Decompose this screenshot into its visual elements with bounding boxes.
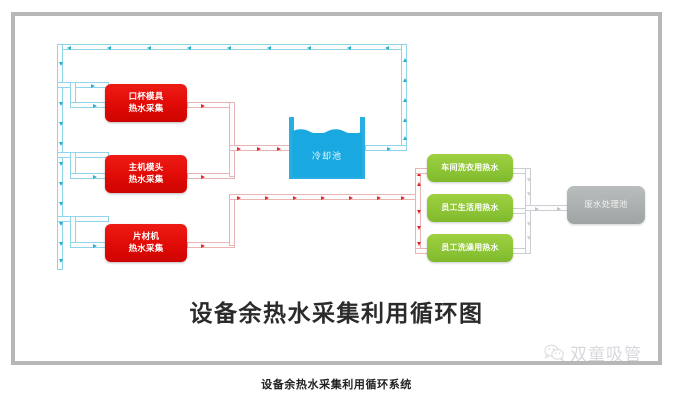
- diagram-title: 设备余热水采集利用循环图: [15, 294, 658, 328]
- hot-outlet-pipe-1: [187, 102, 235, 108]
- cold-arrow-down-11: [59, 259, 63, 263]
- cooling-pool-label: 冷却池: [287, 149, 367, 162]
- cold-branch-arrow-1b: [93, 104, 97, 108]
- cold-branch-arrow-3b: [93, 244, 97, 248]
- hot-dist-arrow-up-2: [417, 182, 421, 186]
- cold-arrow-down-1: [59, 62, 63, 66]
- wechat-icon: [544, 344, 565, 362]
- use-box-staff-living[interactable]: 员工生活用热水: [427, 194, 513, 222]
- cold-arrow-left-5: [227, 46, 231, 50]
- cold-arrow-left-7: [307, 46, 311, 50]
- hot-dist-arrow-down-2: [417, 226, 421, 230]
- hot-uses-arrow-5: [349, 196, 353, 200]
- diagram-frame: 口杯模具 热水采集 主机模头 热水采集 片材机 热水采集 冷却池 车间洗衣用热水…: [11, 12, 662, 365]
- cold-arrow-down-3: [59, 102, 63, 106]
- cold-arrow-left-1: [67, 46, 71, 50]
- cold-arrow-left-9: [385, 46, 389, 50]
- waste-outlet-arrow-1: [535, 207, 539, 211]
- hot-outlet-pipe-2: [187, 173, 235, 179]
- cold-arrow-left-3: [147, 46, 151, 50]
- source-label-line2: 热水采集: [129, 244, 164, 254]
- cold-arrow-up-1: [403, 58, 407, 62]
- cold-arrow-up-5: [403, 136, 407, 140]
- hot-outlet-arrow-1: [201, 104, 205, 108]
- cold-branch-pipe-1b: [70, 102, 109, 108]
- waste-label: 废水处理池: [584, 200, 628, 210]
- waste-treatment-pool-node[interactable]: 废水处理池: [567, 186, 645, 224]
- hot-header-arrow-3: [277, 147, 281, 151]
- source-label-line1: 口杯模具: [129, 92, 164, 102]
- waste-arrow-down-4: [527, 236, 531, 240]
- source-label-line1: 主机模头: [129, 163, 164, 173]
- figure-caption: 设备余热水采集利用循环系统: [0, 376, 673, 392]
- source-box-main-die[interactable]: 主机模头 热水采集: [105, 155, 187, 193]
- hot-outlet-riser-1: [229, 102, 235, 150]
- cold-branch-pipe-3: [57, 216, 109, 222]
- hot-outlet-pipe-3: [187, 242, 235, 248]
- pool-wave-surface: [292, 127, 362, 135]
- cold-branch-pipe-2b: [70, 173, 109, 179]
- hot-uses-arrow-6: [377, 196, 381, 200]
- use-box-workshop-laundry[interactable]: 车间洗衣用热水: [427, 154, 513, 182]
- cold-branch-riser-3: [70, 216, 76, 244]
- cold-branch-arrow-1: [91, 84, 95, 88]
- cold-arrow-down-9: [59, 222, 63, 226]
- hot-outlet-riser-3: [229, 194, 235, 246]
- watermark: 双童吸管: [544, 340, 642, 365]
- waste-outlet-arrow-2: [557, 207, 561, 211]
- hot-uses-arrow-3: [293, 196, 297, 200]
- pool-outlet-arrow: [387, 147, 391, 151]
- watermark-text: 双童吸管: [570, 340, 642, 365]
- hot-outlet-arrow-3: [201, 244, 205, 248]
- source-box-sheet-machine[interactable]: 片材机 热水采集: [105, 224, 187, 262]
- cold-branch-pipe-1: [57, 82, 109, 88]
- use-box-staff-shower[interactable]: 员工洗澡用热水: [427, 234, 513, 262]
- source-label-line2: 热水采集: [129, 175, 164, 185]
- use-label: 员工洗澡用热水: [441, 243, 498, 252]
- cold-arrow-up-3: [403, 98, 407, 102]
- cold-arrow-up-4: [403, 118, 407, 122]
- hot-uses-arrow-7: [401, 196, 405, 200]
- waste-arrow-down-3: [527, 222, 531, 226]
- pool-outlet-pipe: [365, 145, 407, 151]
- cold-arrow-down-4: [59, 122, 63, 126]
- hot-dist-arrow-down-1: [417, 210, 421, 214]
- cold-arrow-left-8: [347, 46, 351, 50]
- cold-arrow-down-6: [59, 162, 63, 166]
- cold-arrow-up-2: [403, 78, 407, 82]
- source-box-cup-mold[interactable]: 口杯模具 热水采集: [105, 84, 187, 122]
- hot-dist-arrow-down-3: [417, 242, 421, 246]
- source-label-line1: 片材机: [133, 232, 159, 242]
- hot-uses-arrow-1: [237, 196, 241, 200]
- hot-outlet-arrow-2: [201, 175, 205, 179]
- cooling-pool-node[interactable]: 冷却池: [287, 117, 367, 179]
- cold-arrow-left-4: [187, 46, 191, 50]
- diagram-canvas: 口杯模具 热水采集 主机模头 热水采集 片材机 热水采集 冷却池 车间洗衣用热水…: [15, 16, 658, 361]
- cold-arrow-left-6: [267, 46, 271, 50]
- waste-arrow-down-2: [527, 192, 531, 196]
- source-label-line2: 热水采集: [129, 104, 164, 114]
- cold-arrow-down-5: [59, 142, 63, 146]
- hot-header-arrow-1: [237, 147, 241, 151]
- use-label: 员工生活用热水: [441, 203, 498, 212]
- cold-branch-arrow-2b: [93, 175, 97, 179]
- waste-arrow-down-1: [527, 178, 531, 182]
- use-label: 车间洗衣用热水: [441, 163, 498, 172]
- hot-uses-arrow-4: [321, 196, 325, 200]
- cold-arrow-left-2: [107, 46, 111, 50]
- cold-arrow-down-8: [59, 202, 63, 206]
- cold-arrow-down-10: [59, 242, 63, 246]
- hot-header-arrow-2: [257, 147, 261, 151]
- cold-branch-pipe-2: [57, 152, 109, 158]
- cold-arrow-down-7: [59, 182, 63, 186]
- hot-uses-arrow-2: [265, 196, 269, 200]
- cold-branch-pipe-3b: [70, 242, 109, 248]
